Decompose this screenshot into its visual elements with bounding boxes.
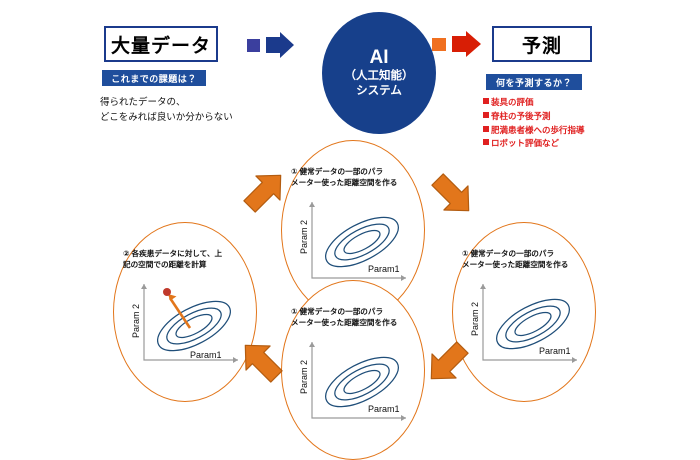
cycle-node-right-caption: ① 健常データの一部のパラ メーター使った距離空間を作る (462, 248, 588, 271)
y-axis-label: Param 2 (299, 360, 309, 394)
what-to-predict-badge: 何を予測するか？ (486, 74, 582, 90)
caption-line-2: メーター使った距離空間を作る (291, 317, 417, 328)
ai-node-line-3: システム (356, 84, 402, 98)
disease-data-point (163, 288, 171, 296)
big-data-label: 大量データ (111, 31, 211, 58)
list-item: 肥満患者様への歩行指導 (483, 124, 633, 138)
cycle-node-bottom: ① 健常データの一部のパラ メーター使った距離空間を作る Param 2 Par… (281, 280, 425, 460)
bullet-label: 脊柱の予後予測 (491, 111, 551, 121)
square-bullet-icon (483, 98, 489, 104)
bullet-label: ロボット評価など (491, 138, 559, 148)
caption-line-1: ① 健常データの一部のパラ (291, 306, 417, 317)
challenge-note-line-1: 得られたデータの、 (100, 96, 290, 111)
cycle-node-bottom-caption: ① 健常データの一部のパラ メーター使った距離空間を作る (291, 306, 417, 329)
prediction-box: 予測 (492, 26, 592, 62)
y-axis-label: Param 2 (299, 220, 309, 254)
y-axis-label: Param 2 (131, 304, 141, 338)
cycle-arrow-up-right-icon (232, 162, 294, 224)
list-item: ロボット評価など (483, 137, 633, 151)
cycle-arrow-down-right-icon (420, 162, 482, 224)
ai-node-line-1: AI (370, 48, 389, 68)
ai-system-node: AI （人工知能） システム (322, 12, 436, 134)
x-axis-label: Param1 (190, 350, 222, 360)
challenge-badge-label: これまでの課題は？ (111, 72, 197, 85)
big-data-box: 大量データ (104, 26, 218, 62)
bullet-label: 肥満患者様への歩行指導 (491, 125, 585, 135)
arrow-right-red-icon (432, 28, 494, 60)
cycle-node-left-caption: ② 各疾患データに対して、上 記の空間での距離を計算 (123, 248, 249, 271)
caption-line-2: メーター使った距離空間を作る (462, 259, 588, 270)
list-item: 脊柱の予後予測 (483, 110, 633, 124)
distance-space-plot: Param 2 Param1 (296, 336, 412, 428)
arrow-right-blue-icon (247, 30, 309, 60)
caption-line-1: ① 健常データの一部のパラ (291, 166, 417, 177)
prediction-bullet-list: 装具の評価 脊柱の予後予測 肥満患者様への歩行指導 ロボット評価など (483, 96, 633, 151)
square-bullet-icon (483, 112, 489, 118)
challenge-badge: これまでの課題は？ (102, 70, 206, 86)
distance-space-plot: Param 2 Param1 (467, 278, 583, 370)
x-axis-label: Param1 (539, 346, 571, 356)
challenge-note: 得られたデータの、 どこをみれば良いか分からない (100, 96, 290, 125)
caption-line-1: ② 各疾患データに対して、上 (123, 248, 249, 259)
x-axis-label: Param1 (368, 404, 400, 414)
square-bullet-icon (483, 139, 489, 145)
cycle-arrow-up-left-icon (232, 332, 294, 394)
distance-arrow-icon (170, 298, 190, 328)
ai-node-line-2: （人工知能） (345, 69, 414, 84)
what-to-predict-badge-label: 何を予測するか？ (496, 76, 572, 89)
caption-line-2: メーター使った距離空間を作る (291, 177, 417, 188)
list-item: 装具の評価 (483, 96, 633, 110)
challenge-note-line-2: どこをみれば良いか分からない (100, 111, 290, 126)
caption-line-1: ① 健常データの一部のパラ (462, 248, 588, 259)
distance-space-plot-with-point: Param 2 Param1 (128, 278, 244, 370)
caption-line-2: 記の空間での距離を計算 (123, 259, 249, 270)
x-axis-label: Param1 (368, 264, 400, 274)
prediction-label: 予測 (522, 31, 562, 58)
diagram-canvas: 大量データ これまでの課題は？ 得られたデータの、 どこをみれば良いか分からない… (0, 0, 700, 450)
cycle-arrow-down-left-icon (418, 330, 480, 392)
square-bullet-icon (483, 126, 489, 132)
bullet-label: 装具の評価 (491, 97, 534, 107)
distance-space-plot: Param 2 Param1 (296, 196, 412, 288)
cycle-node-top-caption: ① 健常データの一部のパラ メーター使った距離空間を作る (291, 166, 417, 189)
